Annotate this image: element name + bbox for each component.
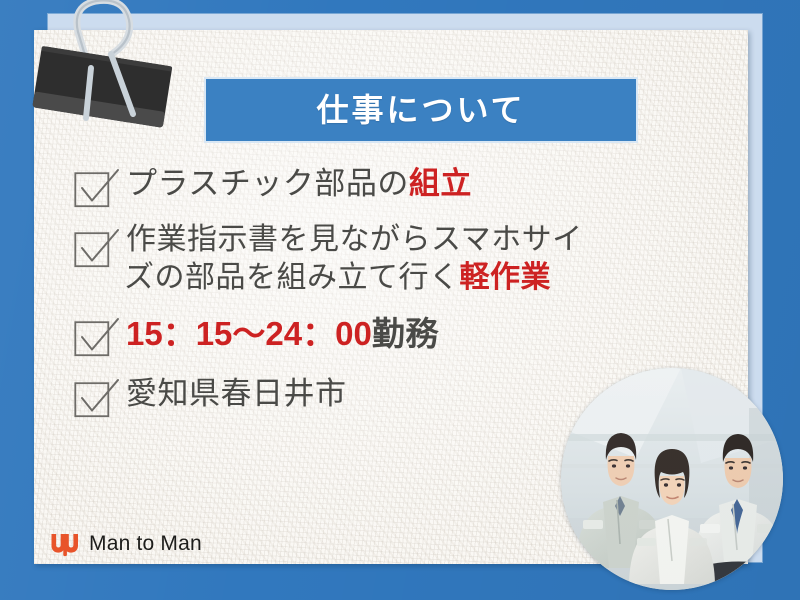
job-detail-line2-plain: ズの部品を組み立て行く: [124, 261, 460, 294]
checkbox-checked-icon: [74, 228, 112, 266]
list-item-text: 作業指示書を見ながらスマホサイズの部品を組み立て行く軽作業: [126, 221, 583, 298]
checkbox-checked-icon: [74, 168, 112, 206]
job-content-plain: プラスチック部品の: [126, 166, 409, 201]
section-header-banner: 仕事について: [204, 77, 638, 143]
list-item-text: プラスチック部品の組立: [126, 163, 472, 204]
list-item-job-detail: 作業指示書を見ながらスマホサイズの部品を組み立て行く軽作業: [74, 223, 714, 298]
job-poster: 仕事について プラスチック部品の組立 作業指示書を見ながらスマホサイズの部品を組…: [0, 0, 800, 600]
three-workers-photo: [561, 368, 783, 590]
job-detail-line1: 作業指示書を見ながらスマホサイ: [126, 221, 583, 259]
list-item-text: 愛知県春日井市: [126, 373, 347, 414]
list-item-job-content: プラスチック部品の組立: [74, 163, 714, 206]
company-logo: Man to Man: [50, 531, 202, 557]
job-content-accent: 組立: [409, 166, 472, 201]
man-to-man-logo-mark-icon: [50, 531, 80, 557]
page-title: 仕事について: [316, 94, 525, 126]
checkbox-checked-icon: [74, 317, 112, 355]
list-item-text: 15：15～24：00勤務: [126, 312, 439, 356]
work-hours-range: 15：15～24：00: [126, 315, 372, 352]
job-detail-accent: 軽作業: [460, 261, 552, 294]
job-detail-line2: ズの部品を組み立て行く軽作業: [124, 259, 583, 297]
work-hours-suffix: 勤務: [372, 315, 439, 352]
company-logo-text: Man to Man: [89, 532, 202, 556]
checkbox-checked-icon: [74, 378, 112, 416]
list-item-work-hours: 15：15～24：00勤務: [74, 312, 714, 356]
